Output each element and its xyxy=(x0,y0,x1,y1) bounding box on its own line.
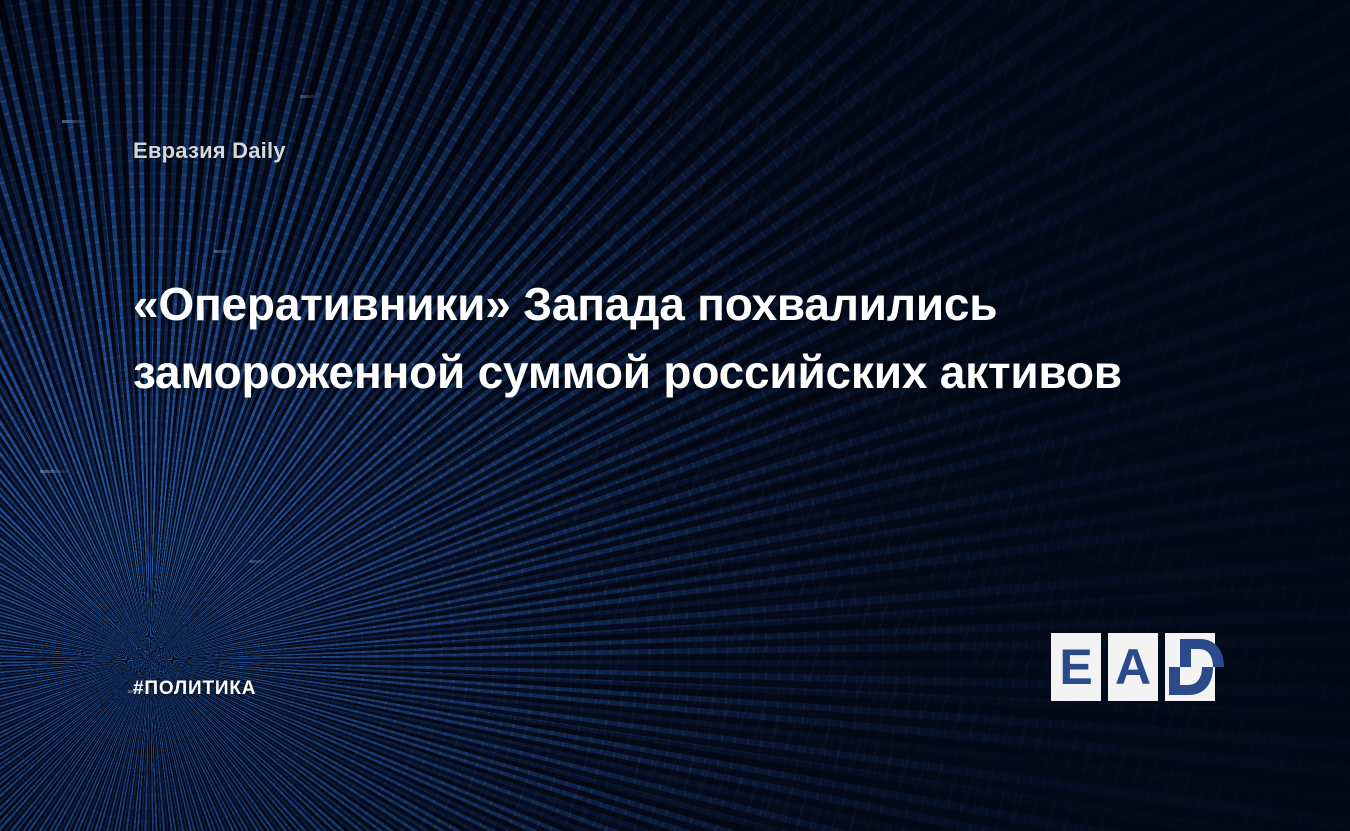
news-share-card: Евразия Daily «Оперативники» Запада похв… xyxy=(0,0,1350,831)
card-content: Евразия Daily «Оперативники» Запада похв… xyxy=(0,0,1350,831)
logo-letter-d-split xyxy=(1165,633,1227,701)
headline-title: «Оперативники» Запада похвалились заморо… xyxy=(133,270,1143,406)
category-hashtag: #ПОЛИТИКА xyxy=(133,678,256,700)
logo-letter-e: E xyxy=(1051,633,1101,701)
brand-wordmark: Евразия Daily xyxy=(133,138,286,164)
logo-letter-d-top-half xyxy=(1165,633,1227,667)
logo-letter-d-bottom-half xyxy=(1165,667,1227,701)
logo-letter-a: A xyxy=(1108,633,1158,701)
ead-logo: E A xyxy=(1051,633,1223,701)
logo-d-glyph-icon xyxy=(1165,667,1225,701)
logo-d-glyph-icon xyxy=(1174,633,1227,667)
